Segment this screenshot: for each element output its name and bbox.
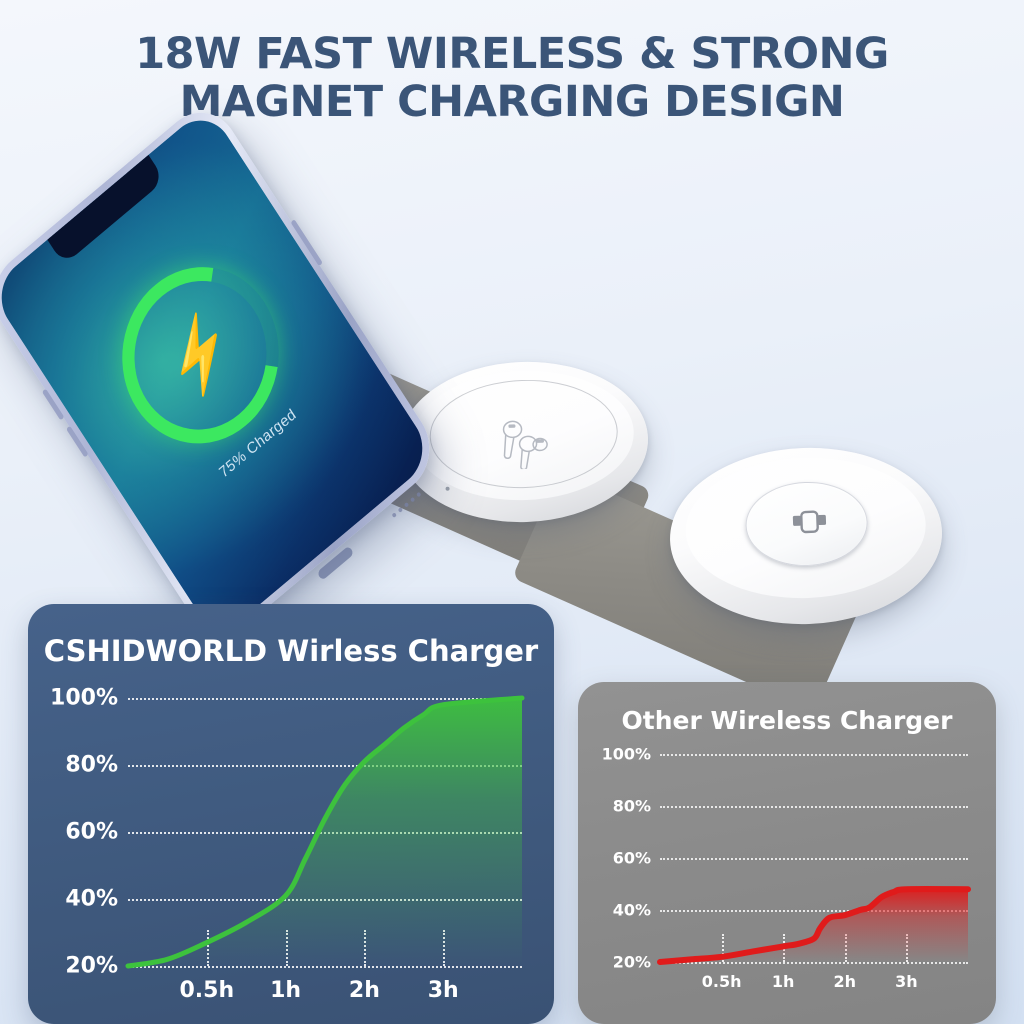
phone-screen: ⚡ 75% Charged	[0, 105, 436, 640]
x-axis-tick-label: 0.5h	[702, 972, 742, 991]
page-title-line-2: MAGNET CHARGING DESIGN	[0, 78, 1024, 126]
x-axis-tick-label: 2h	[834, 972, 857, 991]
phone-frame: ⚡ 75% Charged	[0, 95, 445, 651]
y-axis-tick-label: 20%	[613, 953, 660, 972]
y-axis-tick-label: 60%	[65, 820, 128, 845]
x-axis-tick-label: 3h	[428, 978, 459, 1003]
y-axis-tick-label: 40%	[613, 901, 660, 920]
chart-series-other	[660, 754, 968, 962]
chart-plot-other: 20%40%60%80%100%0.5h1h2h3h	[660, 754, 968, 962]
chart-area-fill	[660, 889, 968, 962]
hero-product-scene: ⚡ 75% Charged	[0, 150, 1024, 620]
x-axis-tick-label: 0.5h	[179, 978, 234, 1003]
chart-title-cshidworld: CSHIDWORLD Wirless Charger	[28, 634, 554, 668]
earbuds-icon	[491, 416, 555, 470]
x-axis-tick-label: 2h	[349, 978, 380, 1003]
x-axis-tick-label: 1h	[270, 978, 301, 1003]
chart-series-cshidworld	[128, 698, 522, 966]
chart-panel-other: Other Wireless Charger 20%40%60%80%100%0…	[578, 682, 996, 1024]
gridline-horizontal	[660, 962, 968, 964]
y-axis-tick-label: 100%	[602, 745, 660, 764]
phone-device-icon	[792, 508, 827, 535]
x-axis-tick-label: 3h	[895, 972, 918, 991]
y-axis-tick-label: 60%	[613, 849, 660, 868]
phone-notch	[47, 155, 165, 265]
smartphone: ⚡ 75% Charged	[0, 95, 445, 651]
chart-panel-cshidworld: CSHIDWORLD Wirless Charger 20%40%60%80%1…	[28, 604, 554, 1024]
x-axis-tick-label: 1h	[772, 972, 795, 991]
chart-title-other: Other Wireless Charger	[578, 706, 996, 735]
chart-plot-cshidworld: 20%40%60%80%100%0.5h1h2h3h	[128, 698, 522, 966]
page-title: 18W FAST WIRELESS & STRONG MAGNET CHARGI…	[0, 30, 1024, 126]
chart-area-fill	[128, 698, 522, 966]
y-axis-tick-label: 40%	[65, 887, 128, 912]
y-axis-tick-label: 20%	[65, 954, 128, 979]
y-axis-tick-label: 80%	[65, 753, 128, 778]
y-axis-tick-label: 100%	[50, 686, 128, 711]
y-axis-tick-label: 80%	[613, 797, 660, 816]
page-title-line-1: 18W FAST WIRELESS & STRONG	[0, 30, 1024, 78]
gridline-horizontal	[128, 966, 522, 968]
